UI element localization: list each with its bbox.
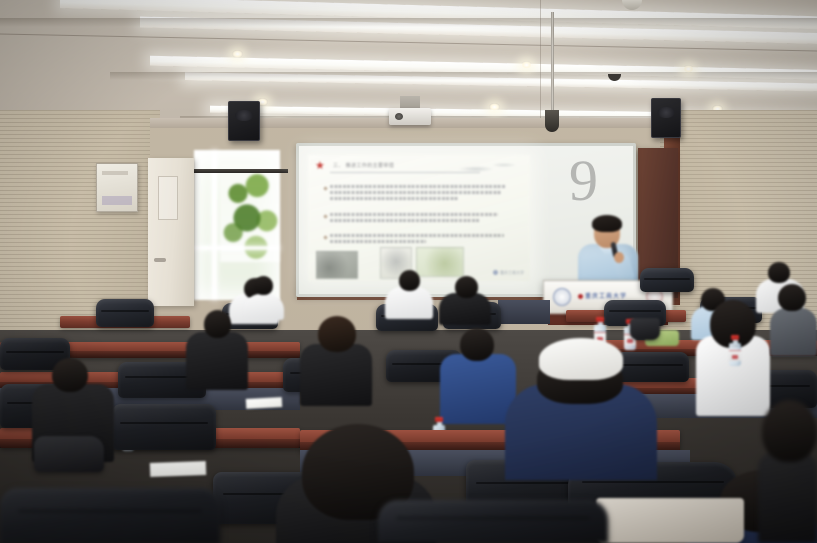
paper-sheet-2 <box>150 461 206 477</box>
audience-head <box>455 276 478 298</box>
presenter-hand <box>614 252 624 263</box>
handbag-dark-1 <box>630 318 660 340</box>
window-rail-horizontal <box>194 246 280 250</box>
presenter <box>576 218 640 288</box>
audience-torso <box>770 308 817 356</box>
bottle-brand-mark-icon <box>627 339 633 343</box>
audience-head <box>762 400 817 462</box>
audience-head <box>778 284 806 311</box>
chair-front-2[interactable] <box>112 404 216 450</box>
white-cap <box>539 338 623 380</box>
ceiling-downlight-2 <box>521 61 532 69</box>
curtain-rod <box>192 169 288 173</box>
wall-control-panel[interactable] <box>96 163 138 212</box>
audience-torso <box>300 344 372 406</box>
lectern-emblem-icon <box>578 294 583 299</box>
panel-label-slot <box>102 171 128 175</box>
hanging-microphone-head <box>545 110 559 132</box>
panel-display-slot <box>102 196 132 205</box>
audience-torso <box>244 294 284 320</box>
presenter-hair <box>592 215 622 232</box>
desk-modesty-panel <box>498 300 550 324</box>
slide-footer-logo: 重庆工商大学 <box>493 270 524 276</box>
whiteboard-scribble: 9 <box>569 152 615 218</box>
slide-bullet-line <box>330 185 506 188</box>
open-door-left[interactable] <box>148 158 194 306</box>
audience-head <box>318 316 356 352</box>
audience-head <box>768 262 790 283</box>
bottle-cap <box>731 335 739 340</box>
slide-image-chart <box>416 247 464 277</box>
audience-head <box>204 310 231 338</box>
door-handle[interactable] <box>154 258 166 262</box>
slide-image-photo <box>316 251 358 279</box>
handbag-white <box>596 498 744 543</box>
slide-logo-text: 重庆工商大学 <box>500 270 524 275</box>
lectern-organization-name: 重庆工商大学 <box>578 291 627 300</box>
ceiling-downlight-1 <box>232 50 243 58</box>
paper-sheet-1 <box>246 397 282 409</box>
bullet-marker-icon <box>323 235 327 239</box>
ceiling-downlight-3 <box>683 65 694 73</box>
wall-speaker-left <box>228 101 260 141</box>
chair-foreground-center[interactable] <box>378 500 608 543</box>
lectern-crest-left-icon <box>553 288 571 306</box>
audience-torso <box>758 452 817 543</box>
slide-bullet-line <box>330 234 504 237</box>
bottle-cap <box>596 317 604 322</box>
ceiling-projector <box>389 108 431 125</box>
bottle-cap <box>435 417 443 422</box>
chair-back-1[interactable] <box>96 299 154 327</box>
chair-mid-5[interactable] <box>615 352 689 382</box>
audience-torso <box>385 287 433 319</box>
audience-torso <box>440 354 516 424</box>
slide-bullet-line <box>330 197 458 200</box>
slide-header: ★ 三、 推进工作的主要举措 <box>308 155 530 177</box>
slide-bullet-line <box>330 191 502 194</box>
slide-bullet-3 <box>330 234 504 246</box>
ceiling-shadow-band-1 <box>0 18 817 27</box>
projector-lens-icon <box>395 113 403 120</box>
slide-bullet-line <box>330 240 426 243</box>
ceiling-shadow-band-2 <box>110 72 817 80</box>
lecture-hall-photograph: 9 ★ 三、 推进工作的主要举措 <box>0 0 817 543</box>
ceiling-downlight-5 <box>489 103 500 111</box>
bottle-brand-mark-icon <box>732 355 738 359</box>
bullet-marker-icon <box>323 214 327 218</box>
hanging-microphone-pole <box>551 12 554 124</box>
audience-head <box>460 328 494 361</box>
slide-bullet-1 <box>330 185 506 203</box>
bullet-marker-icon <box>323 186 327 190</box>
audience-torso <box>186 332 248 390</box>
slide-bullet-line <box>330 219 480 222</box>
chair-foreground-left[interactable] <box>0 488 220 543</box>
speaker-cone-icon <box>658 107 675 118</box>
water-bottle-4[interactable] <box>729 336 741 366</box>
slide-logo-mark-icon <box>493 270 498 275</box>
handbag-dark-2 <box>34 436 104 472</box>
wall-speaker-right <box>651 98 681 138</box>
slide-bullet-2 <box>330 213 498 225</box>
audience-head <box>399 270 420 291</box>
slide-bullet-line <box>330 213 498 216</box>
speaker-cone-icon <box>235 110 253 121</box>
audience-head <box>254 276 273 295</box>
projection-screen: ★ 三、 推进工作的主要举措 <box>308 155 530 281</box>
audience-head <box>52 358 88 392</box>
slide-emblem-icon: ★ <box>315 160 327 172</box>
slide-title: 三、 推进工作的主要举措 <box>333 162 394 169</box>
slide-decor-graphic <box>454 158 524 174</box>
door-panel <box>158 176 178 220</box>
chair-back-5[interactable] <box>640 268 694 292</box>
